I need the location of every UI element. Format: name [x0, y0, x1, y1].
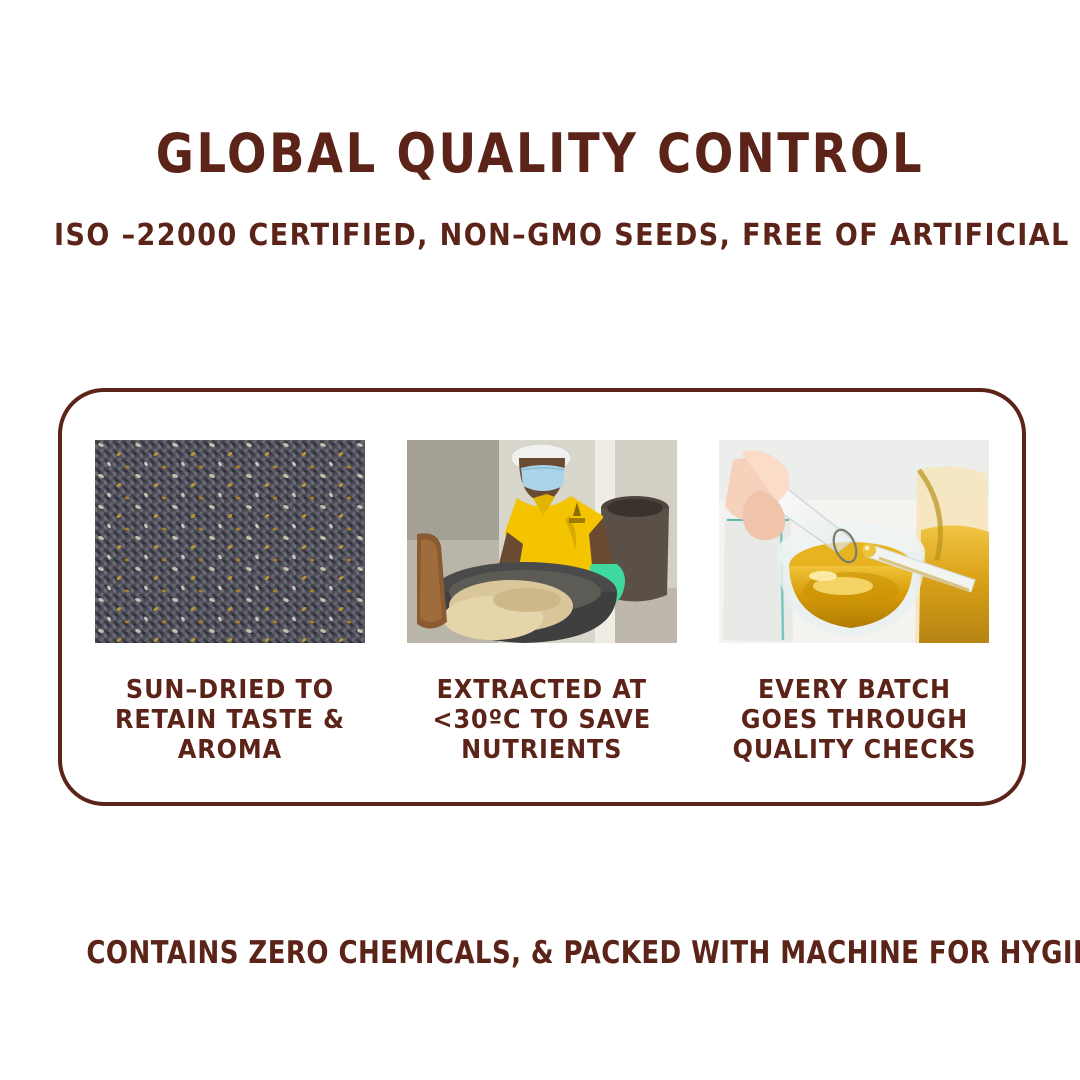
page-title: GLOBAL QUALITY CONTROL [76, 125, 1005, 183]
features-card: SUN–DRIED TO RETAIN TASTE & AROMA [58, 388, 1026, 806]
feature-item-sun-dried: SUN–DRIED TO RETAIN TASTE & AROMA [95, 440, 365, 765]
footer-text: CONTAINS ZERO CHEMICALS, & PACKED WITH M… [86, 935, 993, 971]
features-row: SUN–DRIED TO RETAIN TASTE & AROMA [62, 392, 1022, 802]
quality-control-infographic: GLOBAL QUALITY CONTROL ISO –22000 CERTIF… [0, 0, 1080, 1080]
oil-quality-lab-test-photo [719, 440, 989, 643]
feature-caption: EXTRACTED AT <30ºC TO SAVE NUTRIENTS [433, 675, 652, 765]
feature-item-quality-checks: EVERY BATCH GOES THROUGH QUALITY CHECKS [719, 440, 989, 765]
feature-item-cold-extraction: EXTRACTED AT <30ºC TO SAVE NUTRIENTS [407, 440, 677, 765]
black-sesame-seeds-photo [95, 440, 365, 643]
worker-cold-press-extraction-photo [407, 440, 677, 643]
feature-caption: SUN–DRIED TO RETAIN TASTE & AROMA [115, 675, 345, 765]
feature-caption: EVERY BATCH GOES THROUGH QUALITY CHECKS [732, 675, 976, 765]
page-subtitle: ISO –22000 CERTIFIED, NON–GMO SEEDS, FRE… [54, 219, 1026, 253]
